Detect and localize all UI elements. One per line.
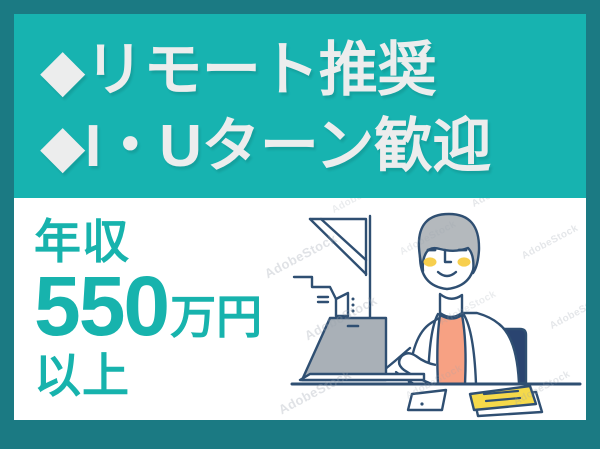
salary-copy-block: 年収 550 万円 以上 <box>34 202 300 416</box>
headline-text-group: ◆リモート推奨 ◆I・Uターン歓迎 <box>40 28 580 188</box>
content-panel: 年収 550 万円 以上 <box>14 198 586 420</box>
job-advertisement-banner: ◆リモート推奨 ◆I・Uターン歓迎 年収 550 万円 以上 <box>0 0 600 449</box>
shelf-dots-icon <box>352 298 355 313</box>
blush-left-icon <box>424 257 437 266</box>
salary-label-bottom: 以上 <box>34 350 300 402</box>
headline-line-1: ◆リモート推奨 <box>40 32 580 108</box>
salary-amount: 550 万円 <box>34 266 300 346</box>
salary-number: 550 <box>34 266 168 346</box>
person-neck <box>440 294 462 317</box>
salary-unit: 万円 <box>170 288 262 346</box>
headline-line-2: ◆I・Uターン歓迎 <box>40 108 580 184</box>
laptop-keyboard <box>300 374 424 380</box>
headline-band: ◆リモート推奨 ◆I・Uターン歓迎 <box>14 14 586 198</box>
blush-right-icon <box>458 257 471 266</box>
smartphone <box>408 390 446 410</box>
smartphone-button-icon <box>420 402 423 405</box>
laptop-screen <box>302 318 386 380</box>
person-shirt <box>437 315 465 384</box>
illustration: AdobeStockAdobeStockAdobeStockAdobeStock… <box>288 198 586 420</box>
illustration-svg <box>288 198 586 420</box>
